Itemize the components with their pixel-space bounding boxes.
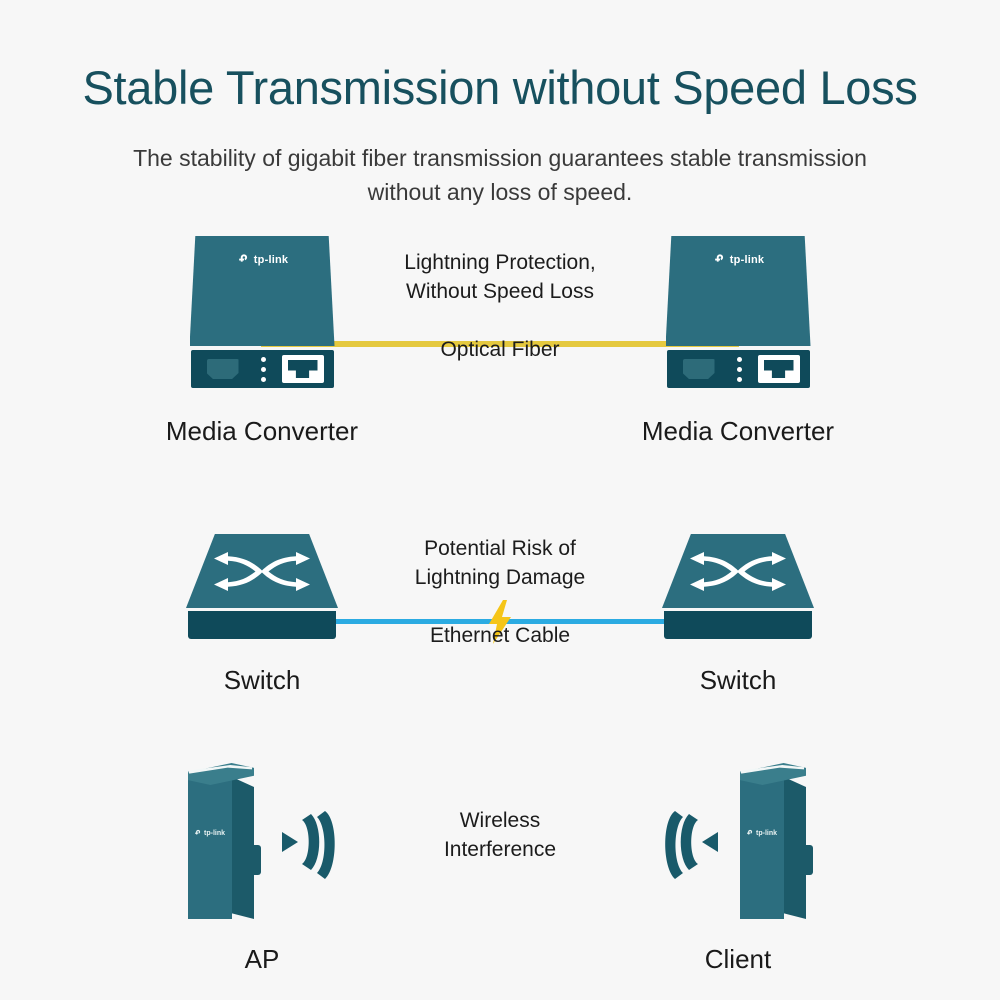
client-device: tp-link Client bbox=[588, 752, 888, 975]
crossing-arrows-icon bbox=[212, 550, 312, 594]
switch-icon bbox=[662, 534, 814, 639]
media-converter-icon: tp-link bbox=[190, 236, 335, 388]
media-converter-row: tp-link Media Converter Lightning Protec… bbox=[0, 236, 1000, 466]
page-title: Stable Transmission without Speed Loss bbox=[0, 62, 1000, 114]
tp-link-logo-text: tp-link bbox=[756, 830, 777, 837]
switch-front-face bbox=[188, 611, 336, 639]
right-switch: Switch bbox=[588, 534, 888, 696]
cpe-unit: tp-link bbox=[184, 757, 264, 927]
page-subtitle: The stability of gigabit fiber transmiss… bbox=[130, 141, 870, 209]
outdoor-cpe-icon: tp-link bbox=[623, 752, 853, 932]
tp-link-mark-icon bbox=[712, 253, 726, 267]
led-indicator bbox=[261, 377, 266, 382]
tp-link-logo-text: tp-link bbox=[730, 254, 764, 266]
led-indicator bbox=[737, 357, 742, 362]
tp-link-logo: tp-link bbox=[745, 829, 781, 838]
tp-link-mark-icon bbox=[236, 253, 250, 267]
tp-link-mark-icon bbox=[193, 829, 202, 838]
right-media-converter: tp-link Media Converter bbox=[588, 236, 888, 447]
device-label: AP bbox=[112, 944, 412, 975]
converter-front-panel bbox=[191, 350, 334, 388]
media-converter-icon: tp-link bbox=[666, 236, 811, 388]
device-label: Media Converter bbox=[588, 416, 888, 447]
tp-link-logo-text: tp-link bbox=[204, 830, 225, 837]
tp-link-logo-text: tp-link bbox=[254, 254, 288, 266]
tp-link-logo: tp-link bbox=[666, 253, 811, 267]
tp-link-logo: tp-link bbox=[190, 253, 335, 267]
led-indicators bbox=[737, 357, 742, 382]
switch-front-face bbox=[664, 611, 812, 639]
led-indicators bbox=[261, 357, 266, 382]
wireless-row: tp-link AP Wireless Interference bbox=[0, 752, 1000, 972]
led-indicator bbox=[261, 367, 266, 372]
led-indicator bbox=[261, 357, 266, 362]
cpe-front-face bbox=[740, 771, 784, 919]
tp-link-mark-icon bbox=[745, 829, 754, 838]
sfp-slot-icon bbox=[683, 359, 715, 379]
cpe-mount-bracket bbox=[250, 845, 261, 875]
switch-row: Switch Potential Risk of Lightning Damag… bbox=[0, 534, 1000, 714]
device-label: Client bbox=[588, 944, 888, 975]
cpe-front-face bbox=[188, 771, 232, 919]
crossing-arrows-icon bbox=[688, 550, 788, 594]
tp-link-logo: tp-link bbox=[193, 829, 229, 838]
cpe-mount-bracket bbox=[802, 845, 813, 875]
sfp-slot-icon bbox=[207, 359, 239, 379]
device-label: Media Converter bbox=[112, 416, 412, 447]
rj45-port-icon bbox=[282, 355, 324, 383]
device-label: Switch bbox=[112, 665, 412, 696]
led-indicator bbox=[737, 367, 742, 372]
device-label: Switch bbox=[588, 665, 888, 696]
switch-icon bbox=[186, 534, 338, 639]
cpe-unit: tp-link bbox=[736, 757, 816, 927]
converter-front-panel bbox=[667, 350, 810, 388]
led-indicator bbox=[737, 377, 742, 382]
wifi-waves-icon bbox=[660, 802, 722, 882]
header: Stable Transmission without Speed Loss T… bbox=[0, 0, 1000, 209]
wifi-waves-icon bbox=[278, 802, 340, 882]
rj45-port-icon bbox=[758, 355, 800, 383]
outdoor-cpe-icon: tp-link bbox=[147, 752, 377, 932]
